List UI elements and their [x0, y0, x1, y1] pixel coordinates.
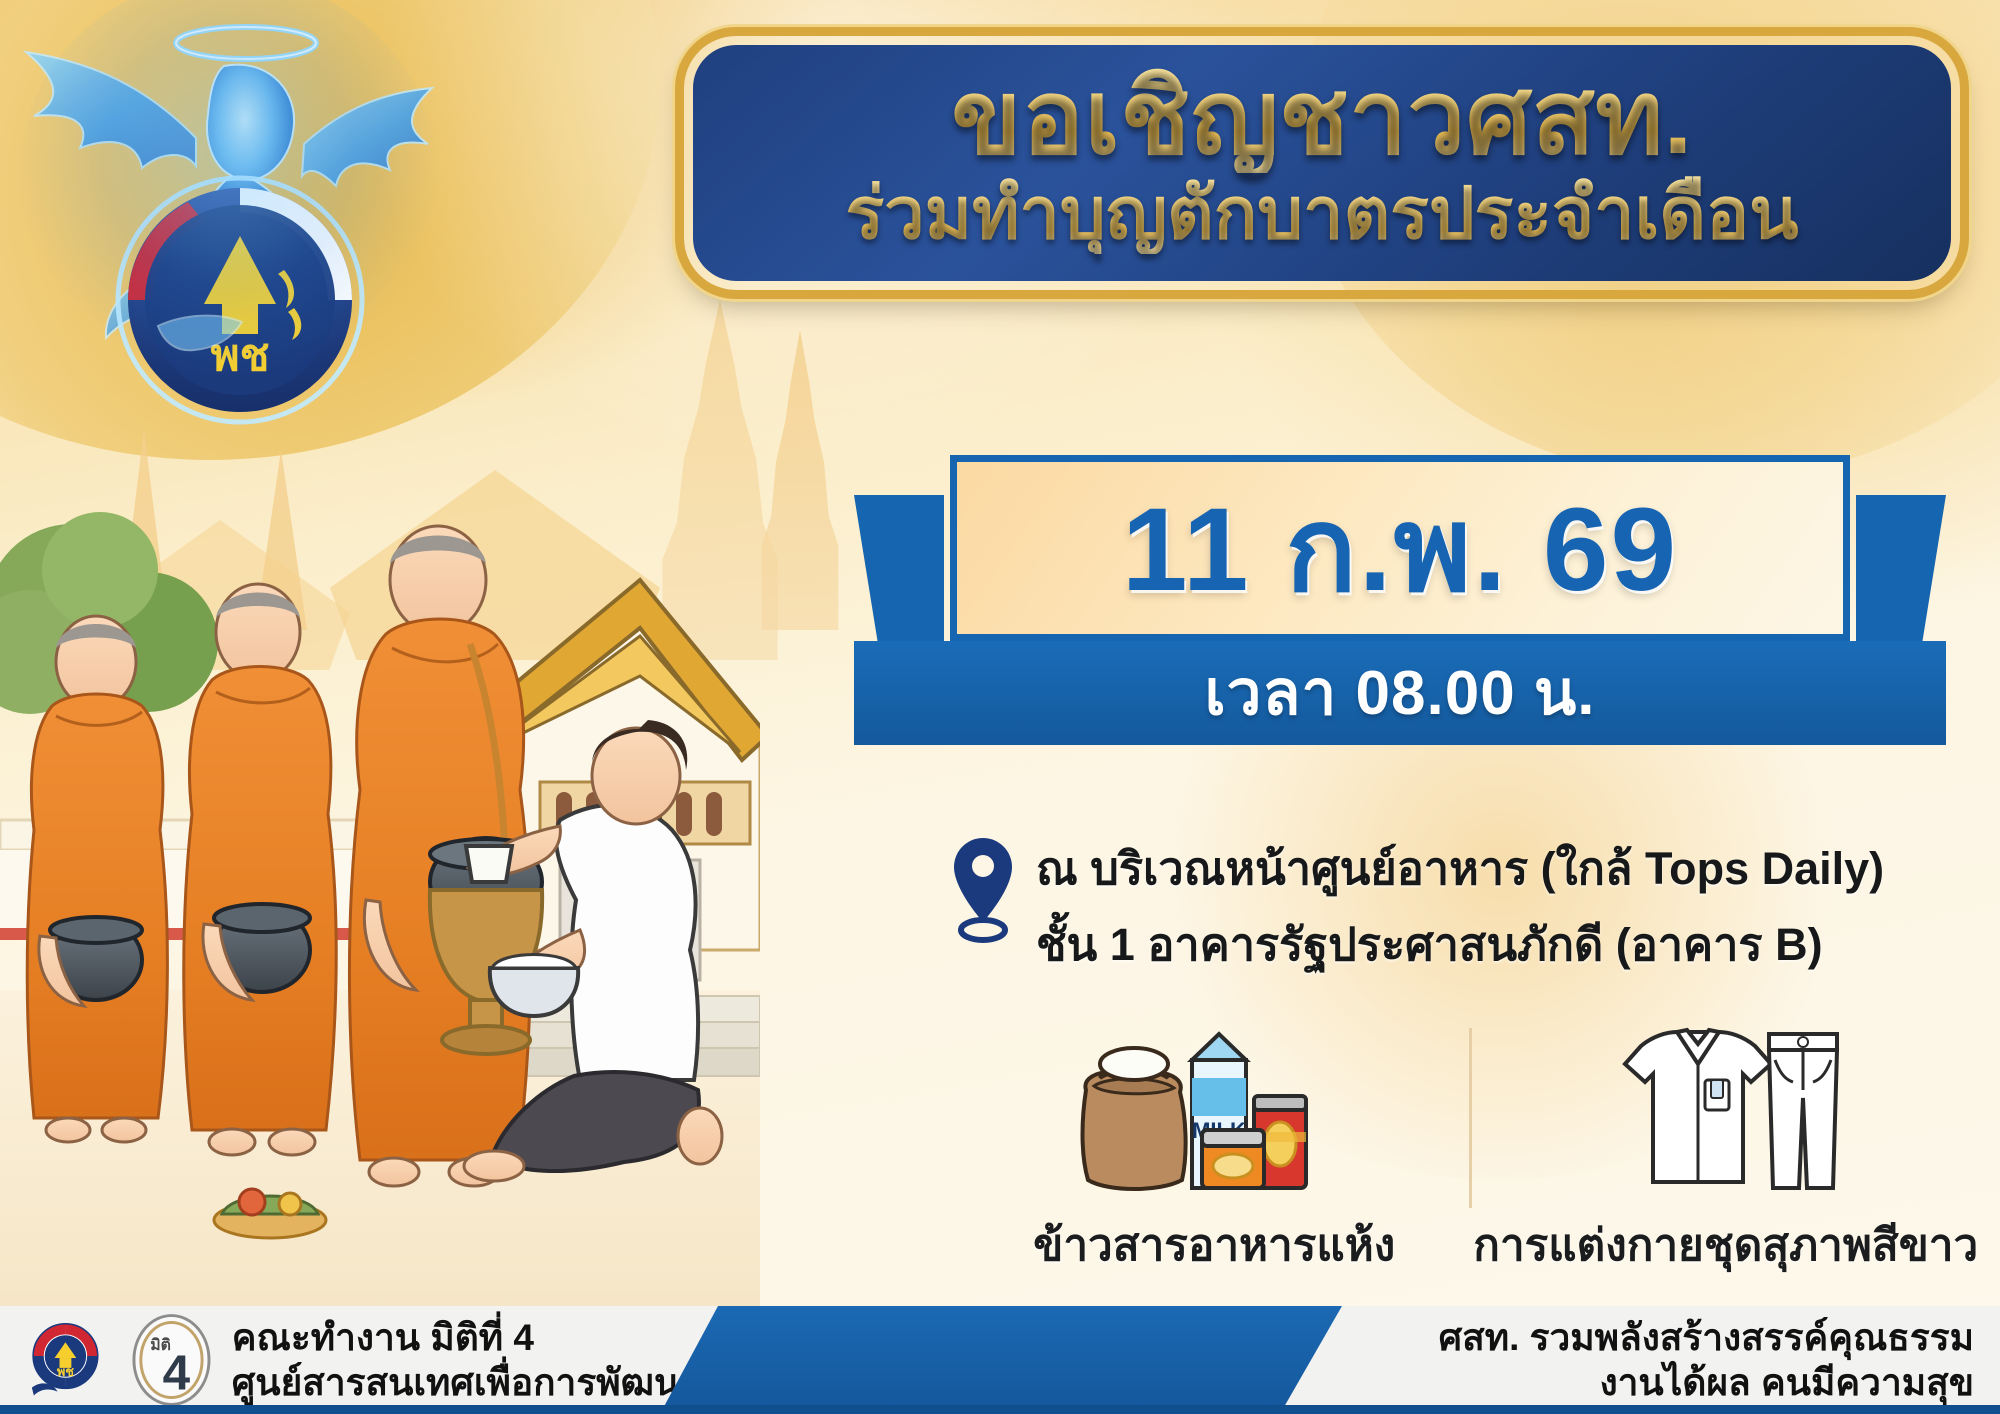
item-caption-white-attire: การแต่งกายชุดสุภาพสีขาว	[1473, 1210, 1978, 1280]
event-time: เวลา 08.00 น.	[1204, 644, 1595, 742]
event-poster: พช ขอเชิญชาวศสท. ร่วมทำบุญตักบาตรประจำเด…	[0, 0, 2000, 1414]
event-location: ณ บริเวณหน้าศูนย์อาหาร (ใกล้ Tops Daily)…	[952, 832, 1884, 980]
footer-right-block: ศสท. รวมพลังสร้างสรรค์คุณธรรม งานได้ผล ค…	[1280, 1306, 2000, 1414]
event-date-block: 11 ก.พ. 69 เวลา 08.00 น.	[950, 455, 1850, 700]
footer-bottom-strip	[0, 1405, 2000, 1414]
badge-label-number: 4	[163, 1346, 191, 1401]
angel-hologram-logo: พช	[18, 8, 438, 428]
rice-sack-milk-cans-icon: MILK	[1064, 1010, 1364, 1200]
location-line-2: ชั้น 1 อาคารรัฐประศาสนภักดี (อาคาร B)	[1036, 908, 1884, 980]
poster-footer: พช มิติ 4 คณะทำงาน มิติที่ 4 ศูนย์สารสนเ…	[0, 1306, 2000, 1414]
item-caption-dry-food: ข้าวสารอาหารแห้ง	[1033, 1210, 1395, 1280]
item-dry-food: MILK ข้าวสารอาหารแห้ง	[960, 1010, 1469, 1280]
white-shirt-trousers-icon	[1601, 1010, 1851, 1200]
poster-title-plaque: ขอเชิญชาวศสท. ร่วมทำบุญตักบาตรประจำเดือน	[684, 36, 1960, 290]
page-subtitle: ร่วมทำบุญตักบาตรประจำเดือน	[846, 175, 1799, 254]
page-title: ขอเชิญชาวศสท.	[951, 62, 1692, 173]
bring-items-section: MILK ข้าวสารอาหารแห้ง	[960, 1010, 1980, 1280]
map-pin-icon	[952, 832, 1014, 949]
cdd-logo-icon: พช	[20, 1314, 111, 1406]
event-date-panel: 11 ก.พ. 69	[950, 455, 1850, 641]
monks-alms-scene	[0, 430, 760, 1310]
svg-text:พช: พช	[57, 1364, 74, 1379]
footer-right-line-1: ศสท. รวมพลังสร้างสรรค์คุณธรรม	[1439, 1315, 1974, 1360]
event-time-bar: เวลา 08.00 น.	[854, 641, 1946, 745]
mission-4-badge-icon: มิติ 4	[129, 1312, 214, 1408]
location-line-1: ณ บริเวณหน้าศูนย์อาหาร (ใกล้ Tops Daily)	[1036, 832, 1884, 904]
event-date: 11 ก.พ. 69	[1122, 454, 1678, 642]
item-white-attire: การแต่งกายชุดสุภาพสีขาว	[1472, 1010, 1981, 1280]
footer-right-line-2: งานได้ผล คนมีความสุข	[1600, 1360, 1974, 1405]
